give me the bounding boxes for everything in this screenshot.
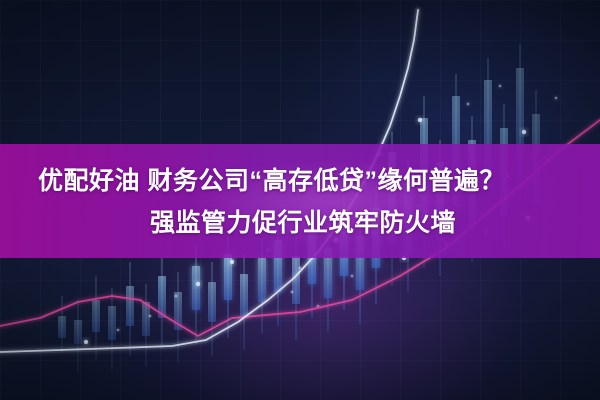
- title-line-2: 强监管力促行业筑牢防火墙: [150, 208, 456, 238]
- title-banner: [0, 144, 600, 258]
- title-line-1: 优配好油 财务公司“高存低贷”缘何普遍？: [38, 166, 505, 196]
- banner-image: 优配好油 财务公司“高存低贷”缘何普遍？ 强监管力促行业筑牢防火墙: [0, 0, 600, 400]
